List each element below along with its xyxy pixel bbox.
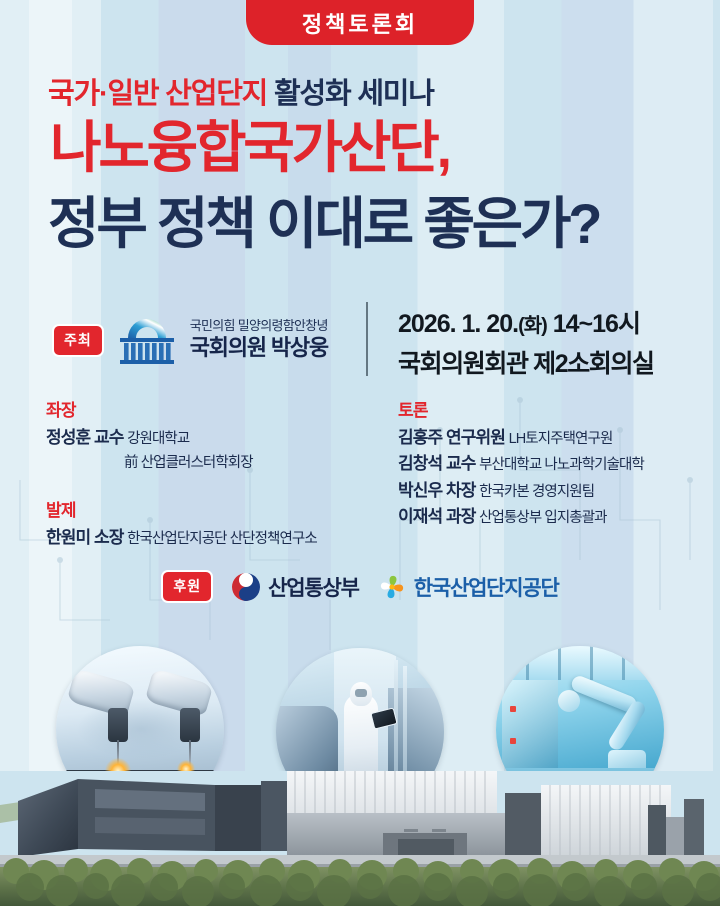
host-block: 주최: [52, 314, 328, 366]
kicker-navy-text: 활성화 세미나: [274, 78, 434, 110]
poster-root: 정책토론회 국가·일반 산업단지 활성화 세미나 나노융합국가산단, 정부 정책…: [0, 0, 720, 906]
panelist-1-name: 김홍주 연구위원: [398, 428, 505, 447]
program-left-column: 좌장 정성훈 교수 강원대학교 前 산업클러스터학회장 발제 한원미 소장 한국…: [46, 396, 317, 551]
panelist-3-name: 박신우 차장: [398, 481, 476, 500]
panelist-1-affiliation: LH토지주택연구원: [509, 431, 613, 447]
panelist-1: 김홍주 연구위원 LH토지주택연구원: [398, 425, 644, 451]
host-badge: 주최: [52, 324, 104, 357]
chair-section-label: 좌장: [46, 396, 317, 421]
panelist-2-name: 김창석 교수: [398, 454, 476, 473]
event-date: 2026. 1. 20.: [398, 310, 518, 338]
title-line-2: 정부 정책 이대로 좋은가?: [48, 196, 599, 252]
event-date-block: 2026. 1. 20.(화) 14~16시 국회의원회관 제2소회의실: [398, 304, 654, 380]
taegeuk-logo-icon: [231, 572, 261, 602]
banner-label: 정책토론회: [302, 7, 418, 39]
event-day-of-week: (화): [518, 315, 547, 337]
chair-person-1-name: 정성훈 교수: [46, 428, 124, 447]
program-gap: [46, 476, 317, 496]
presenter-1-affiliation: 한국산업단지공단 산단정책연구소: [127, 531, 317, 547]
sponsor-name-kicox: 한국산업단지공단: [414, 572, 559, 602]
host-text-group: 국민의힘 밀양의령함안창녕 국회의원 박상웅: [190, 319, 328, 360]
seminar-kicker: 국가·일반 산업단지 활성화 세미나: [48, 70, 434, 112]
panelist-3: 박신우 차장 한국카본 경영지원팀: [398, 478, 644, 504]
host-and-date-row: 주최: [0, 300, 720, 380]
program-right-column: 토론 김홍주 연구위원 LH토지주택연구원 김창석 교수 부산대학교 나노과학기…: [398, 396, 644, 530]
panelist-4: 이재석 과장 산업통상부 입지총괄과: [398, 504, 644, 530]
policy-debate-banner: 정책토론회: [246, 0, 474, 45]
industrial-complex-rendering: [0, 771, 720, 906]
sponsor-badge: 후원: [161, 570, 213, 603]
panelist-2-affiliation: 부산대학교 나노과학기술대학: [479, 457, 644, 473]
discussion-section-label: 토론: [398, 396, 644, 421]
sponsor-item-kicox: 한국산업단지공단: [377, 572, 559, 602]
event-time: 14~16시: [553, 310, 640, 338]
pinwheel-logo-icon: [377, 572, 407, 602]
chair-person-1-affiliation-second-line: 前 산업클러스터학회장: [46, 451, 317, 475]
panelist-4-name: 이재석 과장: [398, 507, 476, 526]
chair-extra-affiliation: 前 산업클러스터학회장: [124, 455, 253, 471]
panelist-3-affiliation: 한국카본 경영지원팀: [479, 484, 594, 500]
chair-person-1: 정성훈 교수 강원대학교: [46, 425, 317, 451]
event-datetime-line: 2026. 1. 20.(화) 14~16시: [398, 304, 654, 340]
panelist-2: 김창석 교수 부산대학교 나노과학기술대학: [398, 451, 644, 477]
presenter-1: 한원미 소장 한국산업단지공단 산단정책연구소: [46, 525, 317, 551]
sponsor-name-motie: 산업통상부: [268, 572, 359, 602]
title-line-1: 나노융합국가산단,: [50, 120, 449, 176]
sponsors-row: 후원 산업통상부 한국산업단지공단: [0, 570, 720, 603]
presenter-1-name: 한원미 소장: [46, 528, 124, 547]
meta-divider: [366, 302, 368, 376]
sponsor-item-motie: 산업통상부: [231, 572, 359, 602]
presentation-section-label: 발제: [46, 496, 317, 521]
host-affiliation: 국민의힘 밀양의령함안창녕: [190, 319, 328, 334]
national-assembly-dome-icon: [116, 314, 178, 366]
chair-person-1-affiliation: 강원대학교: [127, 431, 189, 447]
kicker-red-text: 국가·일반 산업단지: [48, 78, 267, 110]
event-venue: 국회의원회관 제2소회의실: [398, 344, 654, 380]
host-name: 국회의원 박상웅: [190, 335, 328, 360]
panelist-4-affiliation: 산업통상부 입지총괄과: [479, 510, 607, 526]
